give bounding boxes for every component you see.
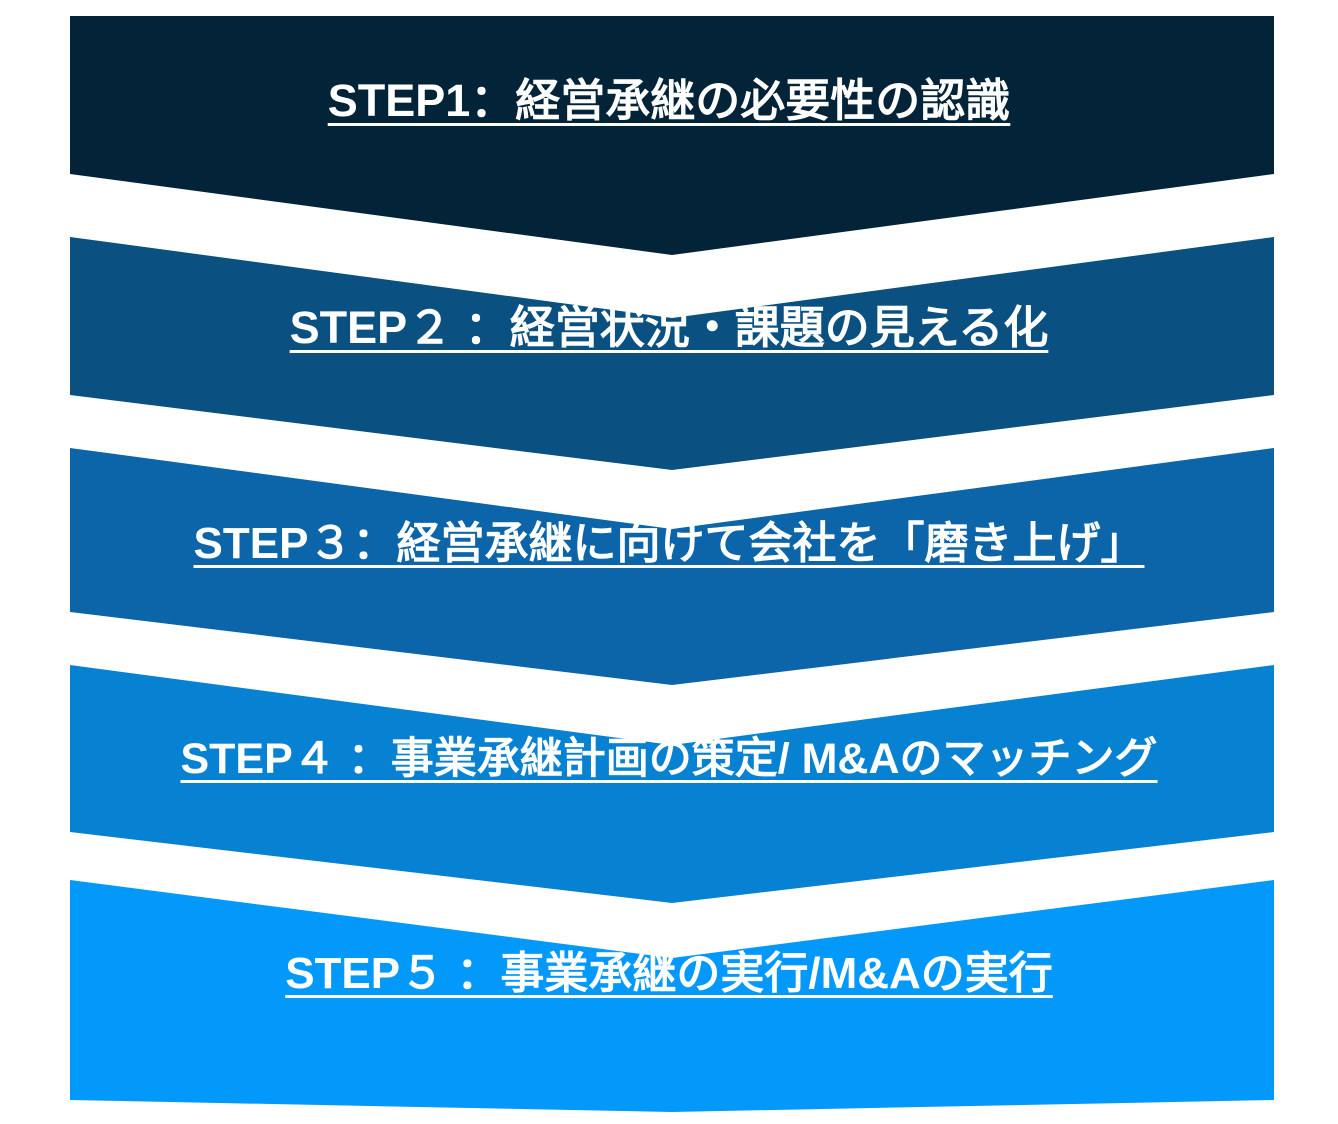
step-band-1[interactable] <box>70 16 1274 255</box>
step-label-3: STEP３：経営承継に向けて会社を「磨き上げ」 <box>0 522 1338 566</box>
step-flow-diagram: STEP1：経営承継の必要性の認識 STEP２ ：経営状況・課題の見える化 ST… <box>0 0 1338 1124</box>
step-label-1: STEP1：経営承継の必要性の認識 <box>0 78 1338 123</box>
step-label-2: STEP２ ：経営状況・課題の見える化 <box>0 305 1338 350</box>
step-label-5: STEP５ ：事業承継の実行/M&Aの実行 <box>0 952 1338 996</box>
step-band-2[interactable] <box>70 237 1274 470</box>
step-band-4[interactable] <box>70 665 1274 903</box>
step-label-4: STEP４ ：事業承継計画の策定/ M&Aのマッチング <box>0 738 1338 781</box>
